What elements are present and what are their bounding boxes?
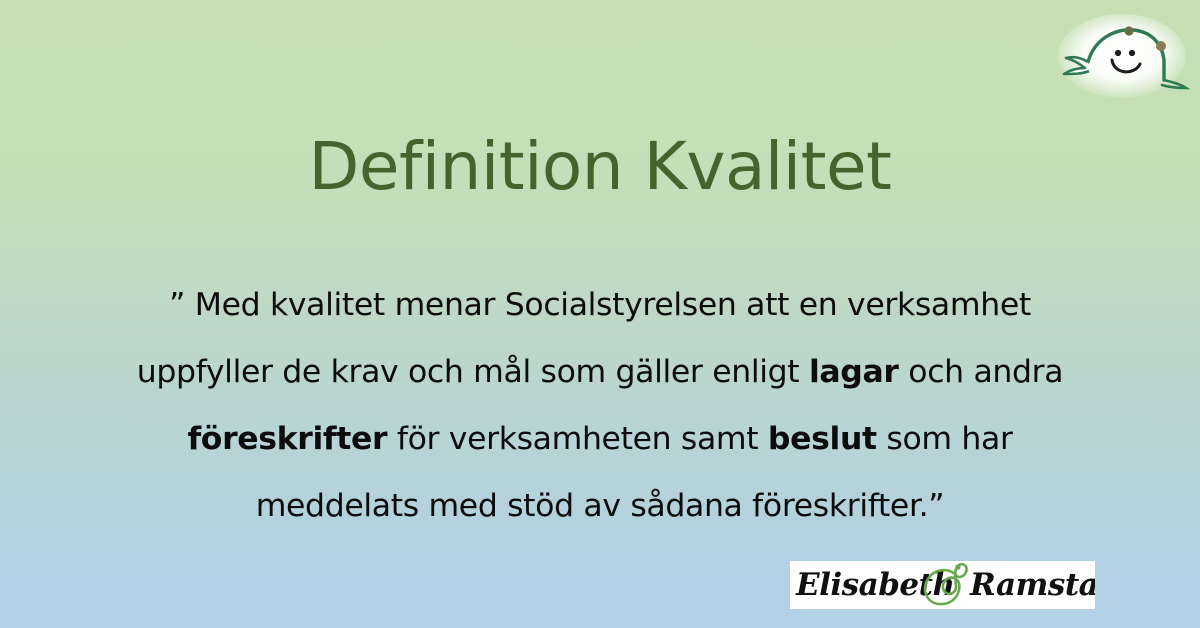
quote-line: meddelats med stöd av sådana föreskrifte… [110,473,1090,540]
quote-text: för verksamheten samt [387,421,768,457]
logo-last-name: Ramsta [970,565,1095,605]
presenter-logo: Elisabeth Ramsta [790,561,1095,609]
quote-text: meddelats med stöd av sådana föreskrifte… [256,488,945,524]
quote-text: och andra [899,354,1064,390]
quote-line: uppfyller de krav och mål som gäller enl… [110,339,1090,406]
at-symbol-icon [918,561,974,609]
quote-text: som har [877,421,1013,457]
page-title: Definition Kvalitet [0,130,1200,204]
quote-body: ” Med kvalitet menar Socialstyrelsen att… [110,272,1090,540]
quote-text: ” Med kvalitet menar Socialstyrelsen att… [169,287,1031,323]
quote-emphasis-foreskrifter: föreskrifter [187,421,387,457]
quote-line: föreskrifter för verksamheten samt beslu… [110,406,1090,473]
quote-text: uppfyller de krav och mål som gäller enl… [137,354,809,390]
slide-canvas: Definition Kvalitet ” Med kvalitet menar… [0,0,1200,628]
quote-line: ” Med kvalitet menar Socialstyrelsen att… [110,272,1090,339]
quote-emphasis-beslut: beslut [768,421,877,457]
smiling-bird-icon [1052,4,1192,108]
quote-emphasis-lagar: lagar [809,354,899,390]
